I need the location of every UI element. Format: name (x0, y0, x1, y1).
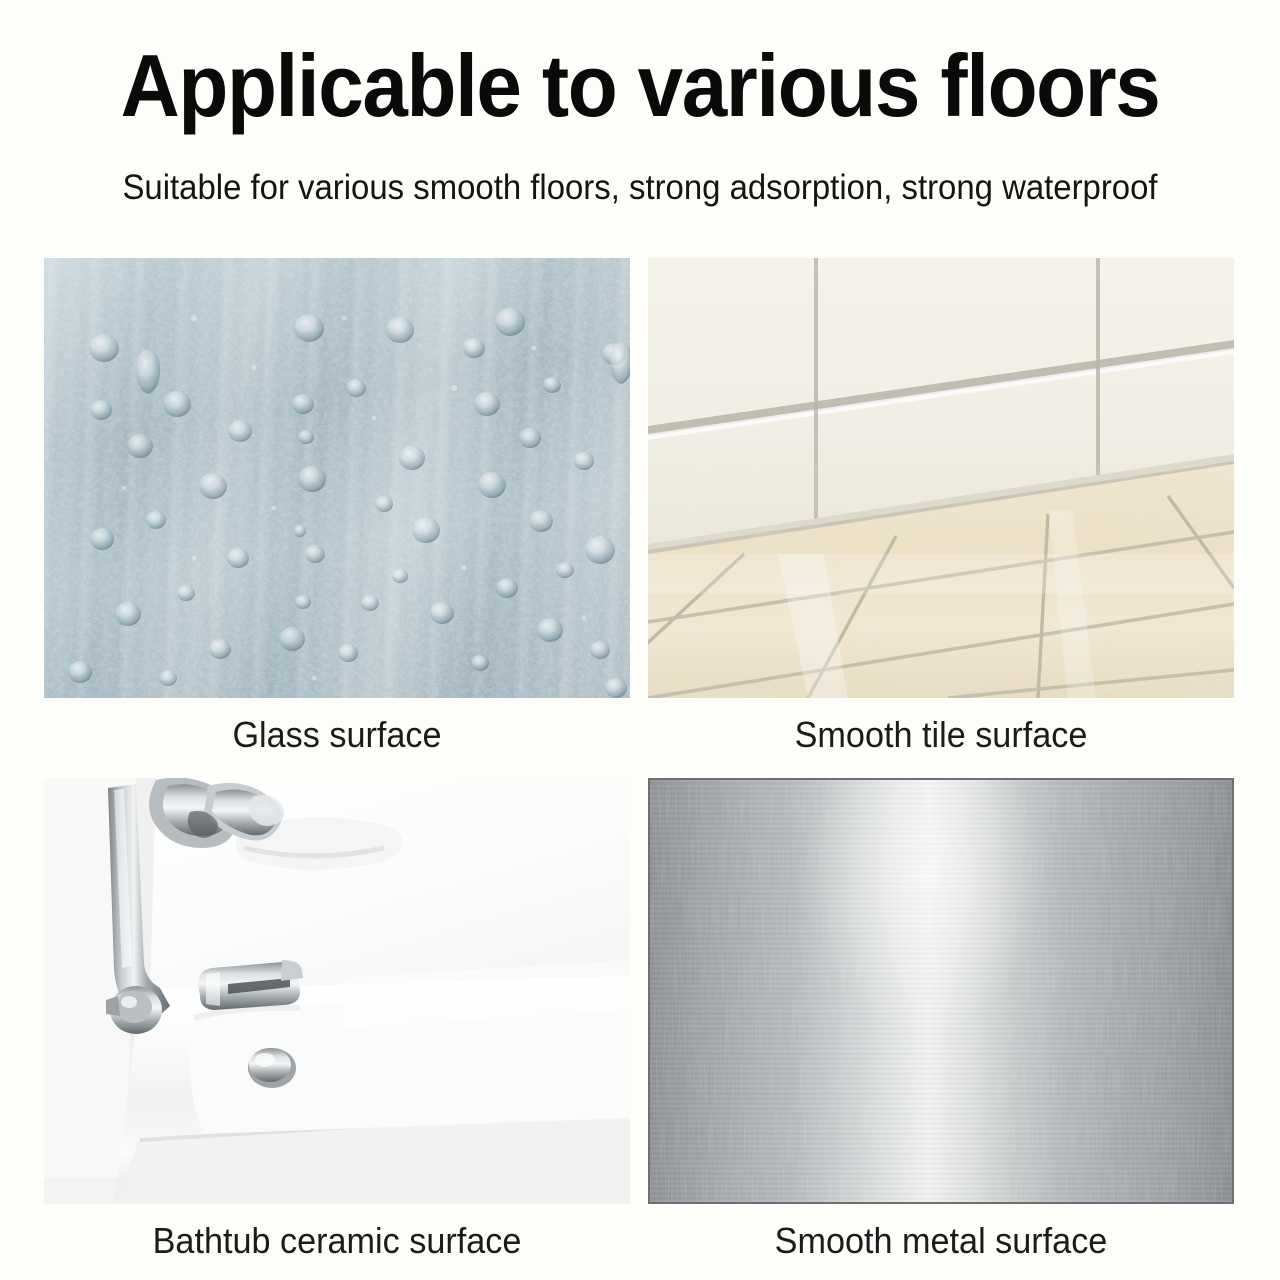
brushed-metal-plate (648, 778, 1234, 1204)
tile-scene (648, 258, 1234, 698)
bathtub-surface-photo (44, 778, 630, 1204)
caption-metal-surface: Smooth metal surface (663, 1220, 1220, 1262)
metal-noise-texture (650, 780, 1232, 1202)
page-subtitle: Suitable for various smooth floors, stro… (38, 166, 1241, 210)
glass-surface-photo (44, 258, 630, 698)
caption-tile-surface: Smooth tile surface (663, 714, 1220, 756)
infographic-page: Applicable to various floors Suitable fo… (0, 0, 1280, 1280)
tile-surface-photo (648, 258, 1234, 698)
caption-glass-surface: Glass surface (59, 714, 616, 756)
caption-bathtub-surface: Bathtub ceramic surface (59, 1220, 616, 1262)
glass-condensation-texture (44, 258, 630, 698)
metal-surface-photo (648, 778, 1234, 1204)
bathtub-scene (44, 778, 630, 1204)
page-title: Applicable to various floors (45, 38, 1235, 134)
